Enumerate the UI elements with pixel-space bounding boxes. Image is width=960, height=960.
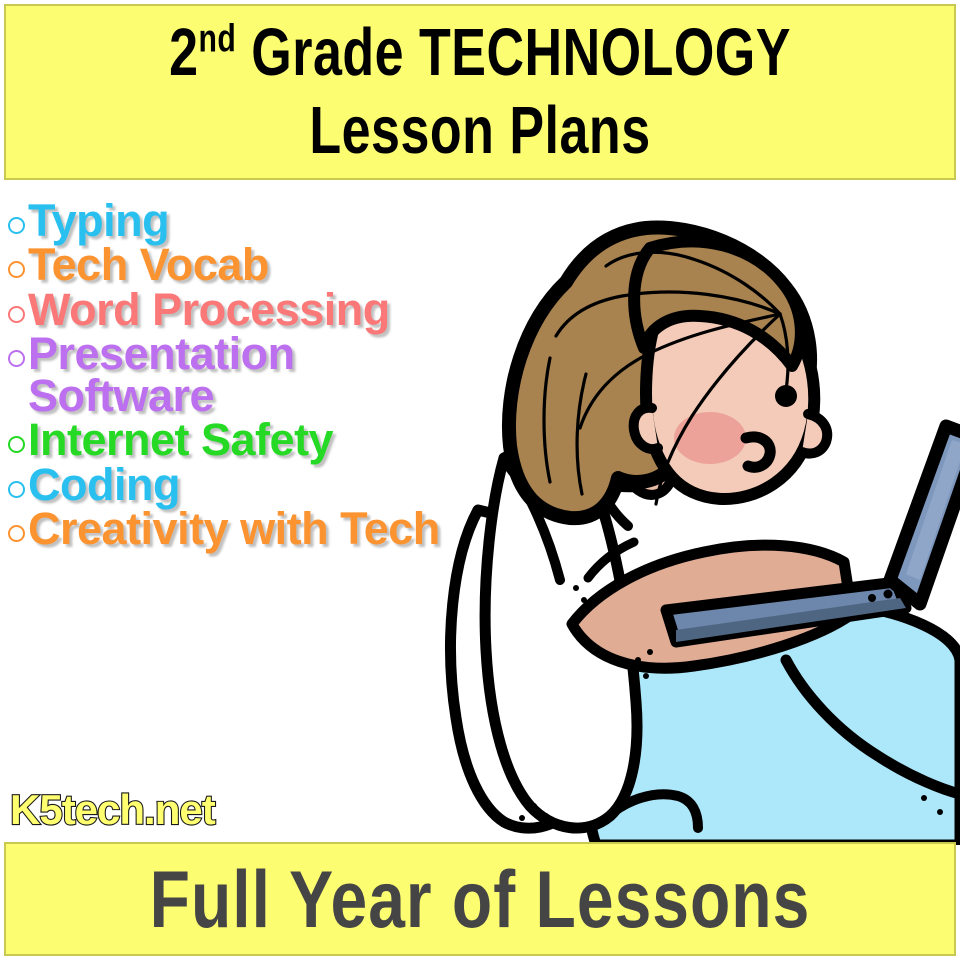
laptop-hinge-dot-2 (884, 590, 893, 599)
lesson-item-label: Typing (28, 200, 169, 242)
bullet-circle-icon (8, 481, 25, 498)
illustration-group (451, 228, 960, 845)
bullet-circle-icon (8, 350, 25, 367)
site-logo: K5tech.net (10, 786, 215, 834)
bullet-circle-icon (8, 261, 25, 278)
page-title-line-2: Lesson Plans (309, 98, 650, 165)
poster-canvas: 2nd Grade TECHNOLOGY Lesson Plans Typing… (0, 0, 960, 960)
title-grade-number: 2 (169, 16, 198, 90)
bullet-circle-icon (8, 217, 25, 234)
laptop-hinge-dot-1 (868, 594, 876, 602)
lesson-item-label: Internet Safety (28, 419, 333, 461)
lesson-item-label: Creativity with Tech (28, 508, 440, 550)
title-subject: Grade TECHNOLOGY (236, 16, 791, 90)
lesson-item-label: Coding (28, 464, 180, 506)
footer-tagline: Full Year of Lessons (150, 853, 811, 946)
lesson-item-label: Tech Vocab (28, 244, 269, 286)
bullet-circle-icon (8, 525, 25, 542)
laptop-hinge-dot-3 (900, 587, 908, 595)
boy-using-laptop-illustration (400, 190, 960, 845)
footer-band: Full Year of Lessons (4, 842, 956, 956)
title-grade-ordinal-suffix: nd (199, 18, 237, 60)
lesson-item-label: Word Processing (28, 289, 390, 331)
bullet-circle-icon (8, 436, 25, 453)
page-title-line-1: 2nd Grade TECHNOLOGY (169, 20, 791, 87)
site-logo-text: K5tech.net (10, 786, 215, 834)
header-band: 2nd Grade TECHNOLOGY Lesson Plans (4, 4, 956, 180)
cheek-blush (674, 412, 746, 464)
bullet-circle-icon (8, 306, 25, 323)
